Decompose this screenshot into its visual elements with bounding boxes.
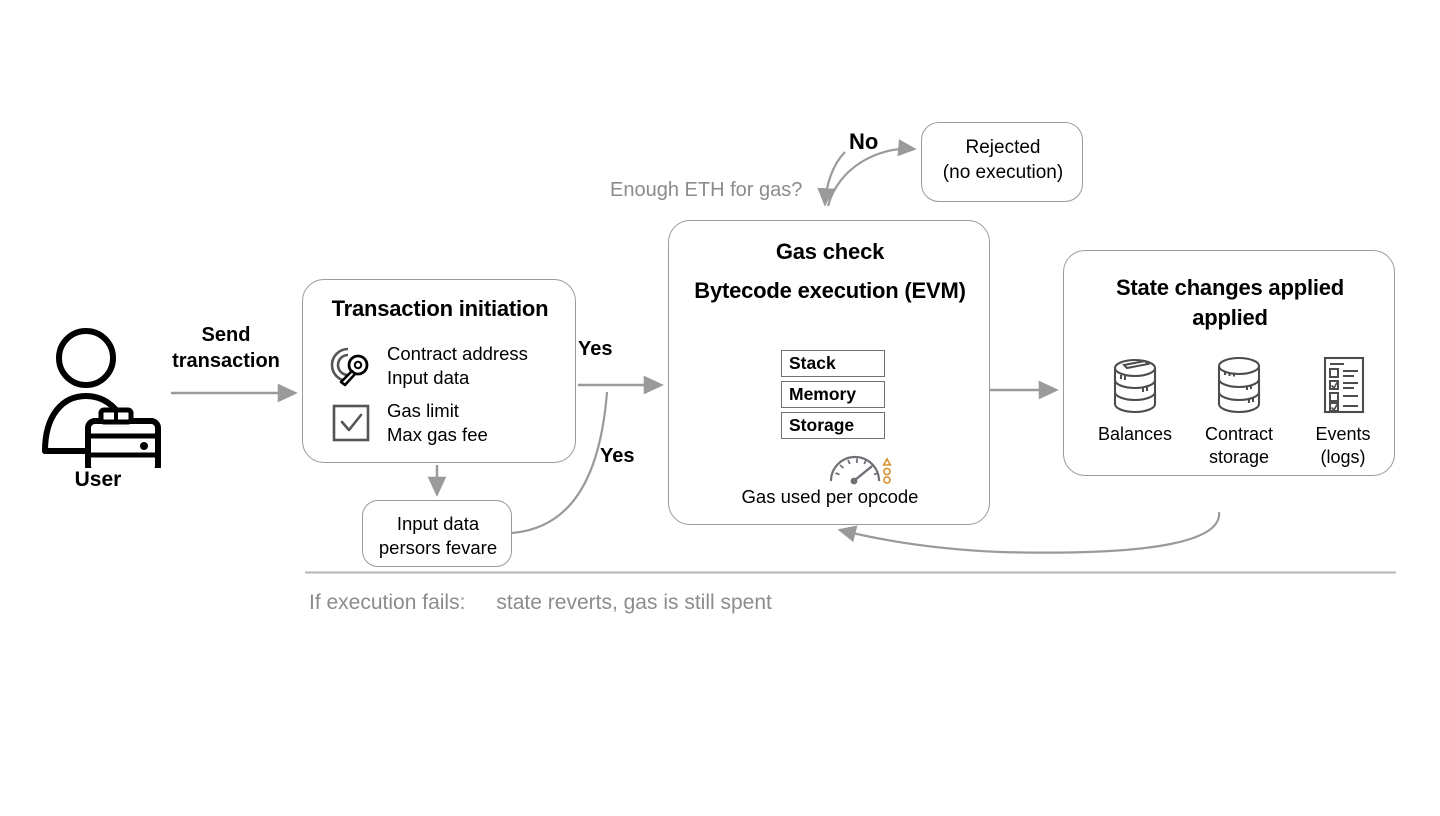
database-storage-icon — [1211, 355, 1267, 417]
footer-note: If execution fails: state reverts, gas i… — [309, 591, 772, 615]
node-rejected[interactable]: Rejected (no execution) — [921, 122, 1083, 202]
user-actor: User — [28, 318, 168, 493]
gas-gauge-icon — [827, 447, 899, 487]
database-balances-icon — [1107, 355, 1163, 417]
evm-chip-memory-label: Memory — [782, 384, 856, 405]
evm-chip-stack-label: Stack — [782, 353, 836, 374]
node-state-changes[interactable]: State changes applied applied Balances — [1063, 250, 1395, 476]
transaction-initiation-row-gas: Gas limit Max gas fee — [329, 399, 488, 447]
evm-title-bytecode-execution: Bytecode execution (EVM) — [669, 278, 991, 304]
input-data-node-line-2: persors fevare — [363, 536, 513, 560]
rejected-text: Rejected (no execution) — [922, 135, 1084, 185]
events-checklist-icon — [1315, 355, 1371, 417]
decision-label-enough-eth: Enough ETH for gas? — [610, 179, 802, 202]
gas-used-per-opcode-label: Gas used per opcode — [669, 486, 991, 508]
gas-limit-label: Gas limit — [387, 399, 488, 423]
input-data-node-text: Input data persors fevare — [363, 512, 513, 559]
state-item-events: Events (logs) — [1291, 355, 1395, 468]
user-wallet-icon — [28, 318, 168, 468]
checkbox-check-icon — [329, 401, 373, 445]
state-changes-title-line-1: State changes applied — [1064, 273, 1396, 303]
evm-chip-storage-label: Storage — [782, 415, 854, 436]
state-item-contract-storage-line-2: storage — [1205, 446, 1273, 469]
transaction-initiation-row-address: Contract address Input data — [329, 342, 528, 390]
user-label: User — [28, 468, 168, 492]
send-line-1: Send — [150, 322, 302, 348]
node-transaction-initiation[interactable]: Transaction initiation Contract address … — [302, 279, 576, 463]
edge-label-yes-secondary: Yes — [600, 445, 634, 468]
contract-address-label: Contract address — [387, 342, 528, 366]
edge-label-no: No — [849, 129, 878, 155]
state-changes-title: State changes applied applied — [1064, 273, 1396, 332]
evm-chip-memory[interactable]: Memory — [781, 381, 885, 408]
max-gas-fee-label: Max gas fee — [387, 423, 488, 447]
gas-gauge-wrap — [827, 447, 899, 487]
key-address-icon — [329, 344, 373, 388]
curve-no-to-rejected — [828, 149, 914, 206]
gas-text-block: Gas limit Max gas fee — [387, 399, 488, 447]
state-changes-title-line-2: applied — [1064, 303, 1396, 333]
state-item-balances-caption: Balances — [1098, 423, 1172, 446]
node-evm-execution[interactable]: Gas check Bytecode execution (EVM) Stack… — [668, 220, 990, 525]
state-item-contract-storage: Contract storage — [1187, 355, 1291, 468]
state-item-balances: Balances — [1083, 355, 1187, 446]
edge-label-send-transaction: Send transaction — [150, 322, 302, 375]
diagram-canvas: User Send transaction Transaction initia… — [0, 0, 1440, 816]
edge-label-yes-primary: Yes — [578, 338, 612, 361]
rejected-line-1: Rejected — [922, 135, 1084, 160]
transaction-initiation-title: Transaction initiation — [303, 296, 577, 322]
state-item-contract-storage-caption: Contract storage — [1205, 423, 1273, 468]
curve-no-down-arrow — [825, 152, 845, 204]
footer-note-body: state reverts, gas is still spent — [496, 591, 771, 615]
evm-chip-storage[interactable]: Storage — [781, 412, 885, 439]
rejected-line-2: (no execution) — [922, 160, 1084, 185]
send-line-2: transaction — [150, 348, 302, 374]
input-data-label: Input data — [387, 366, 528, 390]
state-item-contract-storage-line-1: Contract — [1205, 423, 1273, 446]
address-text-block: Contract address Input data — [387, 342, 528, 390]
state-item-balances-line-1: Balances — [1098, 423, 1172, 446]
evm-title-gas-check: Gas check — [669, 239, 991, 265]
state-item-events-caption: Events (logs) — [1291, 423, 1395, 468]
input-data-node-line-1: Input data — [363, 512, 513, 536]
node-input-data-persists[interactable]: Input data persors fevare — [362, 500, 512, 567]
evm-chip-stack[interactable]: Stack — [781, 350, 885, 377]
footer-note-lead: If execution fails: — [309, 591, 465, 615]
state-item-events-line-1: Events (logs) — [1291, 423, 1395, 468]
